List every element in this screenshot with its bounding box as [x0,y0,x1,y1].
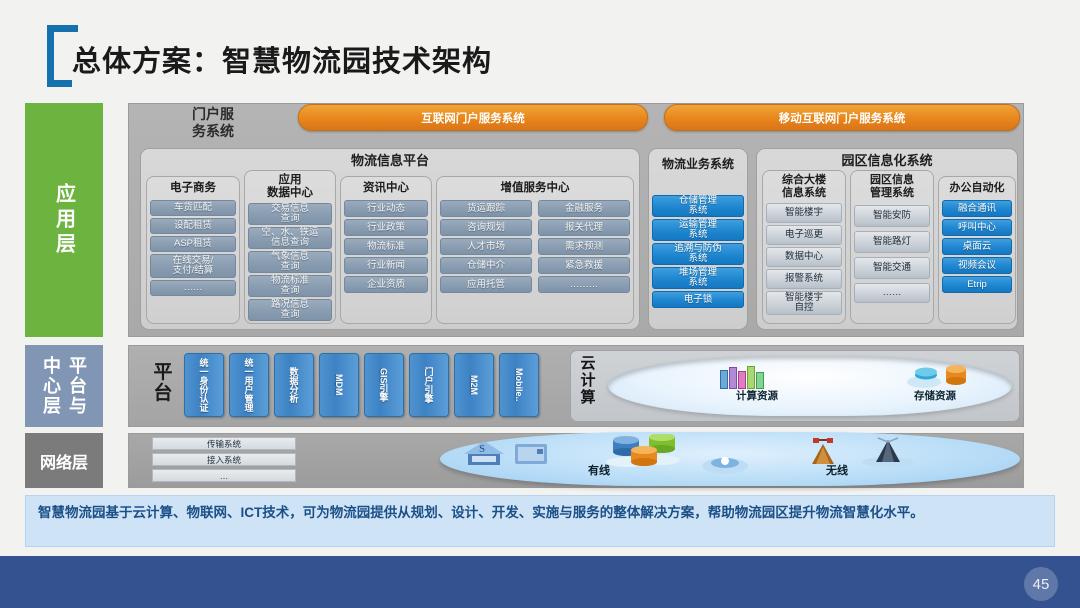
subgroup-title-building-line1: 综合大楼 [763,171,845,187]
radio-tower-icon [860,434,916,468]
chip-building-4[interactable]: 报警系统 [766,269,842,289]
subgroup-title-office-automation: 办公自动化 [939,177,1015,195]
chip-oa-2[interactable]: 呼叫中心 [942,219,1012,236]
portal-service-label: 门户服 务系统 [180,106,246,140]
layer-label-center-text: 中心层 [38,356,64,416]
portal-service-label-line2: 务系统 [180,123,246,140]
chip-ecommerce-1[interactable]: 车货匹配 [150,200,236,216]
chip-business-1[interactable]: 仓储管理 系统 [652,195,744,217]
chip-vas-right-5[interactable]: ……… [538,276,630,293]
chip-adc-3[interactable]: 气象信息 查询 [248,251,332,273]
layer-label-network-text: 网络层 [40,449,88,473]
platform-component-m2m[interactable]: M2M [454,353,494,417]
bottom-bar [0,556,1080,608]
summary-caption: 智慧物流园基于云计算、物联网、ICT技术，可为物流园提供从规划、设计、开发、实施… [25,495,1055,547]
chip-info-4[interactable]: 行业新闻 [344,257,428,274]
group-title-logistics-information-platform: 物流信息平台 [141,149,639,168]
chip-park-mgmt-1[interactable]: 智能安防 [854,205,930,227]
chip-building-5[interactable]: 智能楼宇 自控 [766,291,842,315]
chip-oa-3[interactable]: 桌面云 [942,238,1012,255]
server-bars-icon [718,364,772,390]
mobile-internet-portal-button[interactable]: 移动互联网门户服务系统 [664,104,1020,131]
layer-label-platform-text: 平台与 [64,356,90,416]
subgroup-information-center: 资讯中心 行业动态 行业政策 物流标准 行业新闻 企业资质 [340,176,432,324]
layer-label-application: 应用层 [25,103,103,337]
wireless-label: 无线 [826,462,848,478]
cloud-computing-label: 云计算 [577,355,599,406]
network-node-icon [700,450,750,476]
platform-component-unified-user-mgmt[interactable]: 统一用户管理 [229,353,269,417]
server-box-icon [513,441,551,467]
chip-adc-1[interactable]: 交易信息 查询 [248,203,332,225]
chip-info-2[interactable]: 行业政策 [344,219,428,236]
chip-business-3[interactable]: 追溯与防伪 系统 [652,243,744,265]
subgroup-application-data-center: 应用 数据中心 交易信息 查询 空、水、铁运 信息查询 气象信息 查询 物流标准… [244,170,336,324]
subgroup-office-automation: 办公自动化 融合通讯 呼叫中心 桌面云 视频会议 Etrip [938,176,1016,324]
chip-oa-5[interactable]: Etrip [942,276,1012,293]
subgroup-title-application-data-center-line2: 数据中心 [245,187,335,200]
chip-building-3[interactable]: 数据中心 [766,247,842,267]
subgroup-title-park-mgmt-line1: 园区信息 [851,171,933,187]
subgroup-title-building-line2: 信息系统 [763,187,845,200]
bank-building-icon: S [462,438,508,468]
network-box-more[interactable]: … [152,469,296,482]
platform-component-label-7: M2M [469,375,479,395]
platform-component-unified-identity[interactable]: 统一身份认证 [184,353,224,417]
chip-vas-left-4[interactable]: 仓储中介 [440,257,532,274]
subgroup-complex-building-information-system: 综合大楼 信息系统 智能楼宇 电子巡更 数据中心 报警系统 智能楼宇 自控 [762,170,846,324]
layer-label-platform-center: 平台与 中心层 [25,345,103,427]
platform-component-data-analysis[interactable]: 数据分析 [274,353,314,417]
network-box-transmission[interactable]: 传输系统 [152,437,296,450]
chip-adc-2[interactable]: 空、水、铁运 信息查询 [248,227,332,249]
chip-adc-4[interactable]: 物流标准 查询 [248,275,332,297]
platform-component-label-1: 统一身份认证 [198,358,211,412]
layer-label-application-text: 应用层 [50,183,79,258]
chip-ecommerce-3[interactable]: ASP租赁 [150,236,236,252]
subgroup-title-information-center: 资讯中心 [341,177,431,195]
database-cylinder-icon [605,434,681,468]
svg-text:S: S [479,443,485,455]
platform-component-label-4: MDM [334,374,344,396]
chip-info-1[interactable]: 行业动态 [344,200,428,217]
subgroup-title-value-added-service-center: 增值服务中心 [437,177,633,195]
chip-ecommerce-4[interactable]: 在线交易/ 支付/结算 [150,254,236,278]
platform-component-label-2: 统一用户管理 [243,358,256,412]
chip-business-2[interactable]: 运输管理 系统 [652,219,744,241]
platform-component-label-8: Mobile.. [514,368,524,402]
chip-oa-1[interactable]: 融合通讯 [942,200,1012,217]
chip-ecommerce-2[interactable]: 设配租赁 [150,218,236,234]
group-title-park-informatization-system: 园区信息化系统 [757,149,1017,168]
platform-component-mobile[interactable]: Mobile.. [499,353,539,417]
storage-resource-label: 存储资源 [890,388,980,403]
chip-info-3[interactable]: 物流标准 [344,238,428,255]
subgroup-value-added-service-center: 增值服务中心 货运跟踪 咨询规划 人才市场 仓储中介 应用托管 金融服务 报关代… [436,176,634,324]
network-box-access[interactable]: 接入系统 [152,453,296,466]
platform-component-gis-engine[interactable]: GIS引擎 [364,353,404,417]
chip-vas-left-2[interactable]: 咨询规划 [440,219,532,236]
platform-component-portal-engine[interactable]: 门户引擎 [409,353,449,417]
subgroup-ecommerce: 电子商务 车货匹配 设配租赁 ASP租赁 在线交易/ 支付/结算 …… [146,176,240,324]
subgroup-title-park-mgmt-line2: 管理系统 [851,187,933,200]
chip-park-mgmt-4[interactable]: …… [854,283,930,303]
compute-resource-label: 计算资源 [712,388,802,403]
page-title: 总体方案：智慧物流园技术架构 [72,38,492,80]
group-title-logistics-business-systems: 物流业务系统 [649,149,747,172]
chip-business-4[interactable]: 堆场管理 系统 [652,267,744,289]
wired-label: 有线 [588,462,610,478]
platform-component-label-5: GIS引擎 [378,368,391,402]
portal-service-label-line1: 门户服 [180,106,246,123]
group-logistics-business-systems: 物流业务系统 仓储管理 系统 运输管理 系统 追溯与防伪 系统 堆场管理 系统 … [648,148,748,330]
chip-business-5[interactable]: 电子锁 [652,291,744,308]
chip-vas-right-1[interactable]: 金融服务 [538,200,630,217]
chip-vas-left-5[interactable]: 应用托管 [440,276,532,293]
chip-park-mgmt-3[interactable]: 智能交通 [854,257,930,279]
platform-component-label-6: 门户引擎 [423,367,436,403]
subgroup-park-information-management-system: 园区信息 管理系统 智能安防 智能路灯 智能交通 …… [850,170,934,324]
internet-portal-button[interactable]: 互联网门户服务系统 [298,104,648,131]
chip-adc-5[interactable]: 路况信息 查询 [248,299,332,321]
chip-oa-4[interactable]: 视频会议 [942,257,1012,274]
chip-vas-right-3[interactable]: 需求预测 [538,238,630,255]
chip-ecommerce-5[interactable]: …… [150,280,236,296]
platform-component-mdm[interactable]: MDM [319,353,359,417]
chip-building-1[interactable]: 智能楼宇 [766,203,842,223]
page-number-badge: 45 [1024,567,1058,601]
chip-vas-right-4[interactable]: 紧急救援 [538,257,630,274]
subgroup-title-ecommerce: 电子商务 [147,177,239,195]
subgroup-title-application-data-center-line1: 应用 [245,171,335,187]
chip-info-5[interactable]: 企业资质 [344,276,428,293]
platform-label: 平台 [152,362,174,404]
chip-park-mgmt-2[interactable]: 智能路灯 [854,231,930,253]
disk-stack-icon [906,364,970,390]
chip-building-2[interactable]: 电子巡更 [766,225,842,245]
chip-vas-right-2[interactable]: 报关代理 [538,219,630,236]
platform-component-label-3: 数据分析 [288,367,301,403]
chip-vas-left-3[interactable]: 人才市场 [440,238,532,255]
chip-vas-left-1[interactable]: 货运跟踪 [440,200,532,217]
layer-label-network: 网络层 [25,433,103,488]
